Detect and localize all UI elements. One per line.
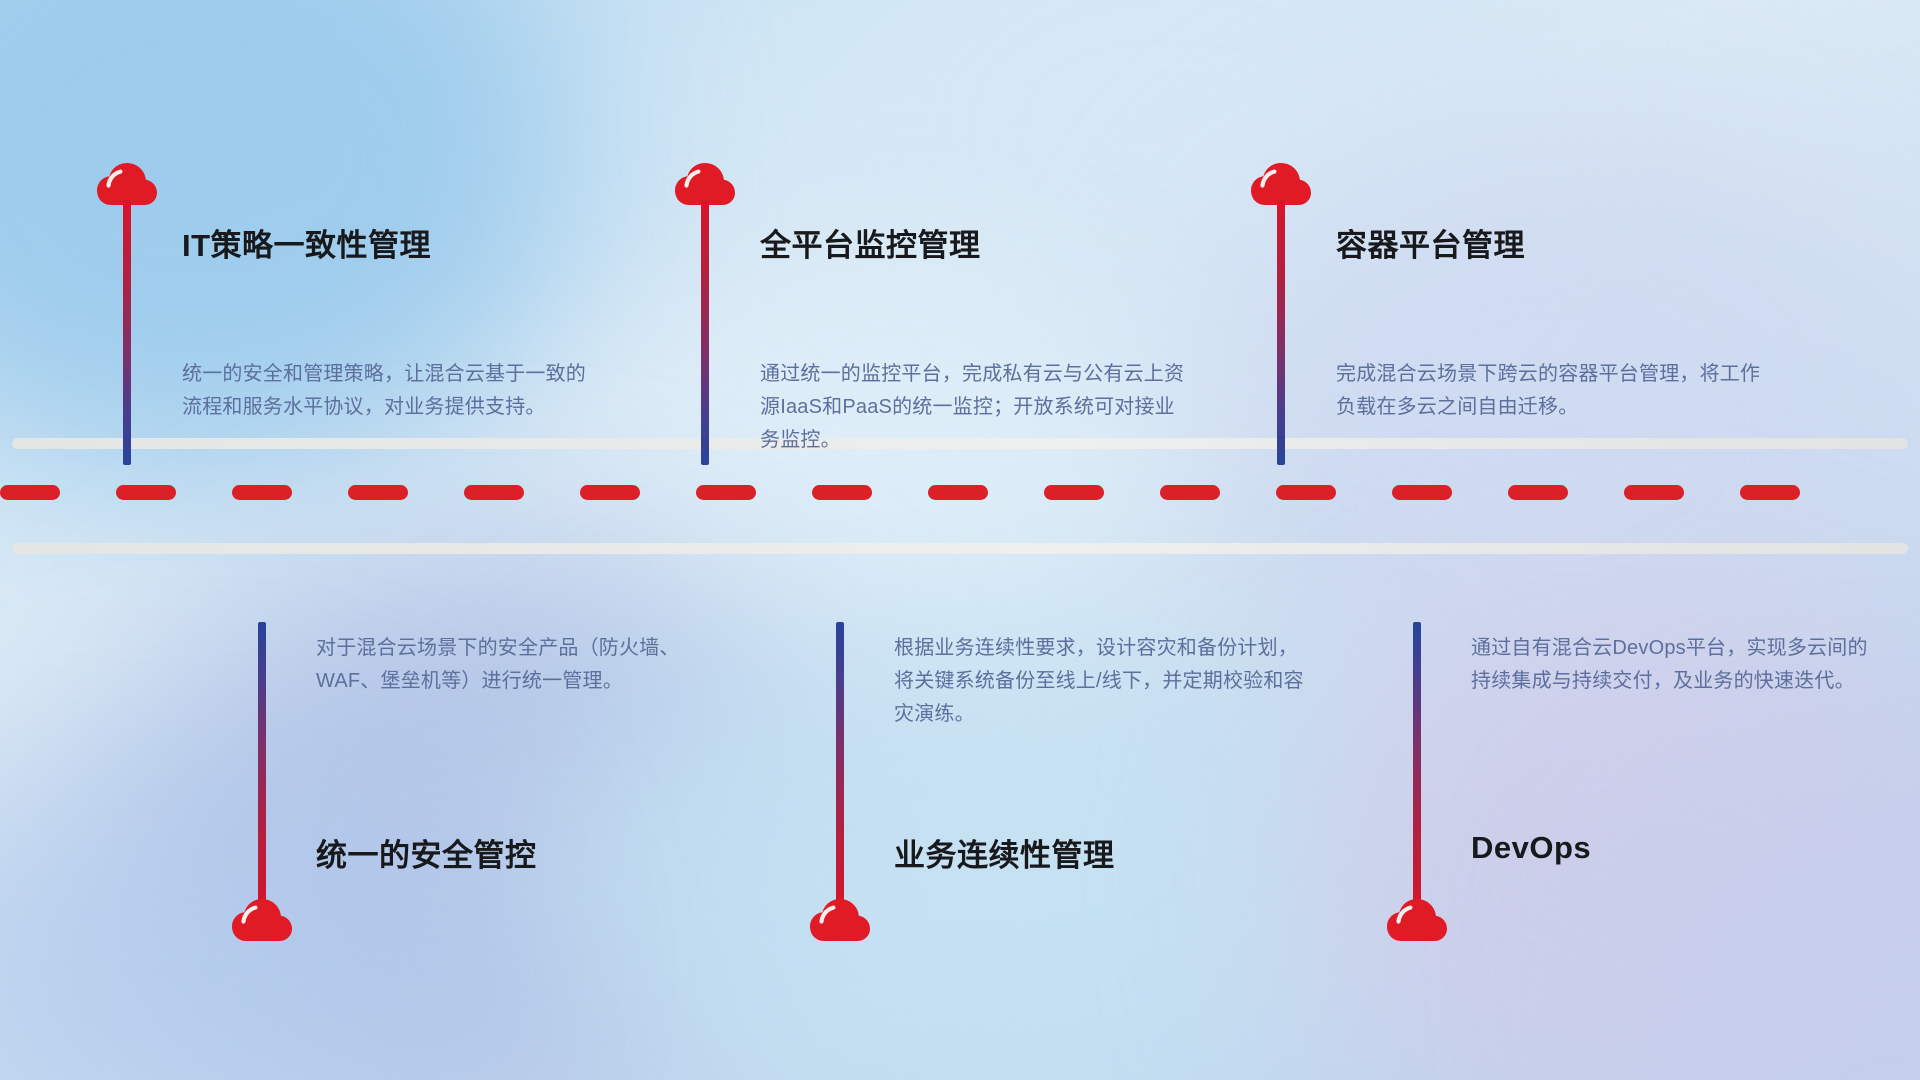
road-dash [1044,485,1104,500]
road-dash [1276,485,1336,500]
stem-connector [1277,200,1285,465]
item-title: 统一的安全管控 [316,830,537,875]
item-description: 统一的安全和管理策略，让混合云基于一致的流程和服务水平协议，对业务提供支持。 [182,358,602,424]
stem-connector [1413,622,1421,912]
item-title: 业务连续性管理 [894,830,1115,875]
road-dash [348,485,408,500]
road-dash [116,485,176,500]
road-edge-bottom [12,543,1908,554]
infographic-canvas: IT策略一致性管理 统一的安全和管理策略，让混合云基于一致的流程和服务水平协议，… [0,0,1920,1080]
cloud-icon [1385,898,1449,942]
item-title: 容器平台管理 [1336,220,1525,265]
cloud-icon [230,898,294,942]
stem-connector [258,622,266,912]
road-dash [0,485,60,500]
cloud-icon [808,898,872,942]
stem-connector [701,200,709,465]
item-title: IT策略一致性管理 [182,220,431,265]
road-dash [696,485,756,500]
road-dash [1508,485,1568,500]
road-dash [232,485,292,500]
road-dash [812,485,872,500]
item-description: 对于混合云场景下的安全产品（防火墙、WAF、堡垒机等）进行统一管理。 [316,632,736,698]
road-dash [928,485,988,500]
item-title: 全平台监控管理 [760,220,981,265]
item-description: 通过自有混合云DevOps平台，实现多云间的持续集成与持续交付，及业务的快速迭代… [1471,632,1881,698]
road-center-dashes [0,485,1920,500]
item-description: 根据业务连续性要求，设计容灾和备份计划，将关键系统备份至线上/线下，并定期校验和… [894,632,1314,731]
road-dash [1160,485,1220,500]
item-title: DevOps [1471,830,1591,866]
stem-connector [836,622,844,912]
road-dash [580,485,640,500]
item-description: 通过统一的监控平台，完成私有云与公有云上资源IaaS和PaaS的统一监控；开放系… [760,358,1190,457]
road-dash [1392,485,1452,500]
stem-connector [123,200,131,465]
item-description: 完成混合云场景下跨云的容器平台管理，将工作负载在多云之间自由迁移。 [1336,358,1766,424]
road-dash [1624,485,1684,500]
road-dash [1740,485,1800,500]
background-bloom [820,0,1520,380]
road-dash [464,485,524,500]
background-bloom [1620,760,1920,1080]
